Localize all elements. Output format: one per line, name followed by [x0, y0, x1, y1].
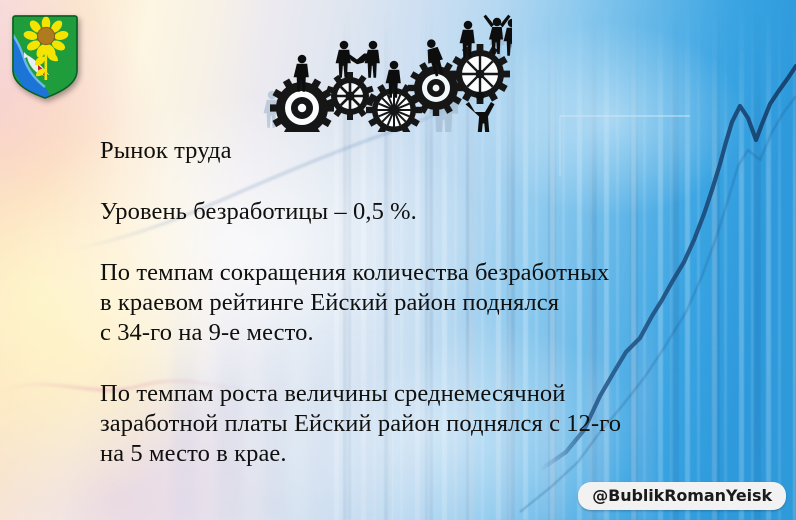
unemployment-line: Уровень безработицы – 0,5 %.: [100, 198, 417, 225]
coat-of-arms-emblem: [11, 11, 79, 100]
unemployment-rate-text: Уровень безработицы – 0,5 %.: [100, 197, 720, 227]
unemployment-ranking-paragraph: По темпам сокращения количества безработ…: [100, 258, 720, 348]
unemployment-rank-line-3: с 34-го на 9-е место.: [100, 319, 314, 346]
salary-rank-line-3: на 5 место в крае.: [100, 440, 287, 467]
heading-labor-market: Рынок труда: [100, 136, 720, 166]
salary-rank-line-1: По темпам роста величины среднемесячной: [100, 380, 565, 407]
watermark-handle-badge: @BublikRomanYeisk: [578, 482, 786, 510]
unemployment-rank-line-1: По темпам сокращения количества безработ…: [100, 259, 609, 286]
people-on-gears-illustration: [246, 4, 512, 132]
paragraph-spacer: [100, 349, 720, 379]
salary-rank-line-2: заработной платы Ейский район поднялся с…: [100, 410, 621, 437]
unemployment-rank-line-2: в краевом рейтинге Ейский район поднялся: [100, 289, 559, 316]
slide-copy: Рынок труда Уровень безработицы – 0,5 %.…: [100, 136, 720, 470]
watermark-handle-text: @BublikRomanYeisk: [592, 486, 772, 505]
salary-ranking-paragraph: По темпам роста величины среднемесячной …: [100, 379, 720, 469]
slide-canvas: Рынок труда Уровень безработицы – 0,5 %.…: [0, 0, 796, 520]
heading-line: Рынок труда: [100, 137, 232, 164]
paragraph-spacer: [100, 167, 720, 197]
paragraph-spacer: [100, 228, 720, 258]
